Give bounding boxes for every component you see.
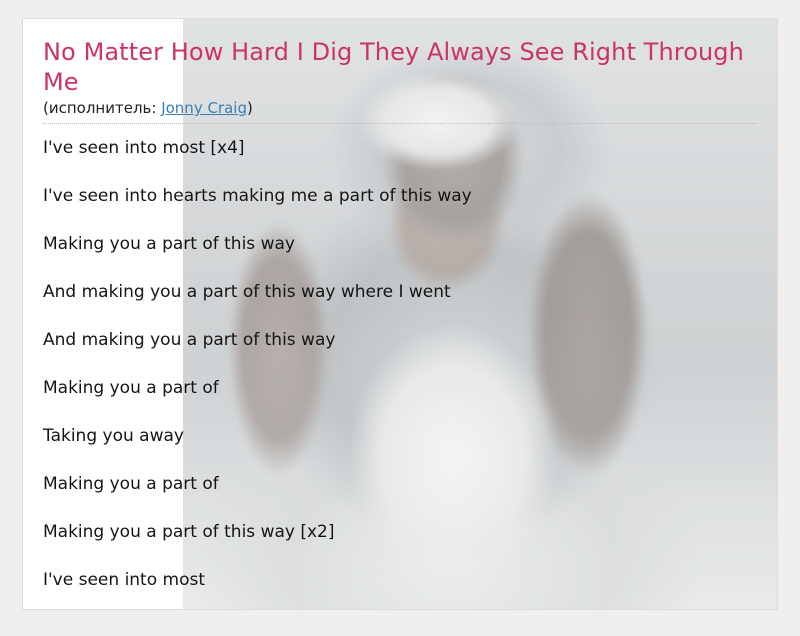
lyrics-body: I've seen into most [x4] I've seen into … xyxy=(43,138,757,591)
lyric-line: Making you a part of this way xyxy=(43,234,757,255)
lyric-line: And making you a part of this way where … xyxy=(43,282,757,303)
lyric-line: Taking you away xyxy=(43,426,757,447)
lyric-line: I've seen into most xyxy=(43,570,757,591)
content-area: No Matter How Hard I Dig They Always See… xyxy=(23,19,777,609)
lyric-line: Making you a part of xyxy=(43,378,757,399)
artist-prefix-label: (исполнитель: xyxy=(43,99,161,117)
page-title: No Matter How Hard I Dig They Always See… xyxy=(43,37,757,97)
artist-line: (исполнитель: Jonny Craig) xyxy=(43,99,757,124)
artist-suffix-label: ) xyxy=(247,99,253,117)
lyric-line: I've seen into most [x4] xyxy=(43,138,757,159)
lyrics-card: No Matter How Hard I Dig They Always See… xyxy=(22,18,778,610)
artist-link[interactable]: Jonny Craig xyxy=(161,99,247,117)
lyric-line: I've seen into hearts making me a part o… xyxy=(43,186,757,207)
lyric-line: Making you a part of xyxy=(43,474,757,495)
lyric-line: And making you a part of this way xyxy=(43,330,757,351)
lyric-line: Making you a part of this way [x2] xyxy=(43,522,757,543)
